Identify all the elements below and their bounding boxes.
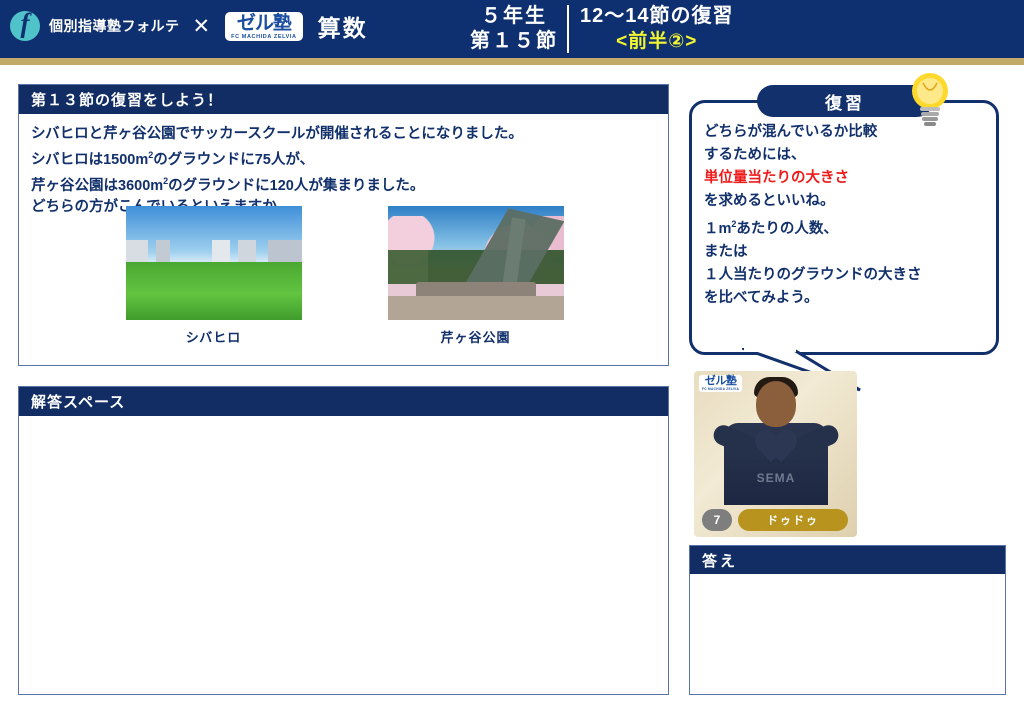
- brand-name: 個別指導塾フォルテ: [49, 16, 180, 36]
- review-range-label: 12～14節の復習: [580, 4, 734, 29]
- player-photo: SEMA: [694, 375, 857, 503]
- bubble-line-7: １人当たりのグラウンドの大きさ: [704, 264, 996, 287]
- section-label: 第１５節: [470, 29, 558, 54]
- bubble-line-6: または: [704, 241, 996, 264]
- bubble-line-2: するためには、: [704, 144, 996, 167]
- lightbulb-icon: [908, 71, 952, 127]
- photo-block-serigaya: 芹ヶ谷公園: [388, 206, 564, 346]
- worksheet-page: f 個別指導塾フォルテ ✕ ゼル塾 FC MACHIDA ZELVIA 算数 ５…: [0, 0, 1024, 709]
- page-header: f 個別指導塾フォルテ ✕ ゼル塾 FC MACHIDA ZELVIA 算数 ５…: [0, 0, 1024, 58]
- part-label: <前半②>: [580, 29, 734, 54]
- grass-field-photo: [126, 206, 302, 320]
- bubble-line-8: を比べてみよう。: [704, 287, 996, 310]
- subject-label: 算数: [318, 9, 368, 43]
- review-panel-title: 第１３節の復習をしよう！: [19, 85, 668, 114]
- cross-icon: ✕: [189, 14, 215, 39]
- zeru-juku-logo: ゼル塾 FC MACHIDA ZELVIA: [223, 10, 305, 43]
- answer-panel[interactable]: 答え: [689, 545, 1006, 695]
- bubble-line-5: １m2あたりの人数、: [704, 213, 996, 241]
- header-right: ５年生 第１５節 12～14節の復習 <前半②>: [470, 4, 734, 54]
- photo-caption-shibahiro: シバヒロ: [126, 327, 302, 346]
- park-sculpture-photo: [388, 206, 564, 320]
- player-card: ゼル塾 FC MACHIDA ZELVIA SEMA 7 ドゥドゥ: [694, 371, 857, 537]
- photo-row: シバヒロ 芹ヶ谷公園: [19, 206, 670, 346]
- grade-label: ５年生: [470, 4, 558, 29]
- player-name-badge: ドゥドゥ: [738, 509, 848, 531]
- problem-line-1: シバヒロと芹ヶ谷公園でサッカースクールが開催されることになりました。: [31, 124, 668, 145]
- player-number-badge: 7: [702, 509, 732, 531]
- photo-caption-serigaya: 芹ヶ谷公園: [388, 327, 564, 346]
- review-tab: 復習: [757, 85, 933, 117]
- photo-block-shibahiro: シバヒロ: [126, 206, 302, 346]
- gold-stripe: [0, 58, 1024, 65]
- answer-panel-title: 答え: [690, 546, 1005, 574]
- problem-line-3: 芹ヶ谷公園は3600m2のグラウンドに120人が集まりました。: [31, 171, 668, 197]
- bubble-line-4: を求めるといいね。: [704, 190, 996, 213]
- problem-line-2: シバヒロは1500m2のグラウンドに75人が、: [31, 145, 668, 171]
- problem-text: シバヒロと芹ヶ谷公園でサッカースクールが開催されることになりました。 シバヒロは…: [19, 114, 668, 218]
- jersey-sponsor-text: SEMA: [744, 471, 808, 485]
- bubble-line-1: どちらが混んでいるか比較: [704, 121, 996, 144]
- answer-space-panel[interactable]: 解答スペース: [18, 386, 669, 695]
- review-speech-bubble: どちらが混んでいるか比較 するためには、 単位量当たりの大きさ を求めるといいね…: [689, 100, 999, 355]
- review-panel: 第１３節の復習をしよう！ シバヒロと芹ヶ谷公園でサッカースクールが開催されること…: [18, 84, 669, 366]
- brand-row: f 個別指導塾フォルテ ✕ ゼル塾 FC MACHIDA ZELVIA 算数: [10, 9, 368, 43]
- zeru-logo-main: ゼル塾: [237, 14, 291, 33]
- bubble-line-3-highlight: 単位量当たりの大きさ: [704, 167, 996, 190]
- bubble-text: どちらが混んでいるか比較 するためには、 単位量当たりの大きさ を求めるといいね…: [692, 103, 996, 310]
- answer-space-title: 解答スペース: [19, 387, 668, 416]
- zeru-logo-sub: FC MACHIDA ZELVIA: [231, 34, 297, 40]
- forte-logo-icon: f: [10, 11, 40, 41]
